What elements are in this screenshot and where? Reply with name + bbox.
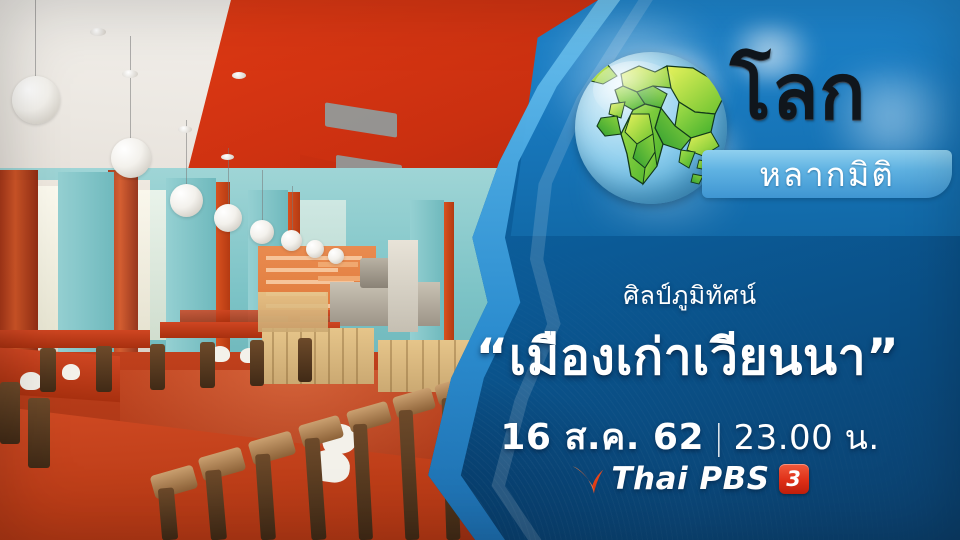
channel-number: 3 (779, 464, 809, 494)
logo-subtitle: หลากมิติ (702, 150, 952, 198)
thaipbs-swoosh-icon (571, 462, 605, 496)
broadcast-date: 16 ส.ค. 62 (500, 417, 704, 458)
schedule-separator: | (713, 418, 724, 458)
program-logo: โลก หลากมิติ (565, 42, 960, 202)
episode-category: ศิลป์ภูมิทัศน์ (430, 276, 950, 316)
channel-name: Thai PBS (611, 461, 769, 497)
broadcast-time: 23.00 น. (733, 418, 879, 458)
logo-wordmark: โลก หลากมิติ (720, 58, 960, 198)
logo-subtitle-band: หลากมิติ (702, 150, 952, 198)
episode-title: “เมืองเก่าเวียนนา” (420, 318, 955, 397)
promo-banner: โลก หลากมิติ ศิลป์ภูมิทัศน์ “เมืองเก่าเว… (0, 0, 960, 540)
logo-title: โลก (730, 54, 866, 130)
channel-logo: Thai PBS 3 (430, 456, 950, 502)
